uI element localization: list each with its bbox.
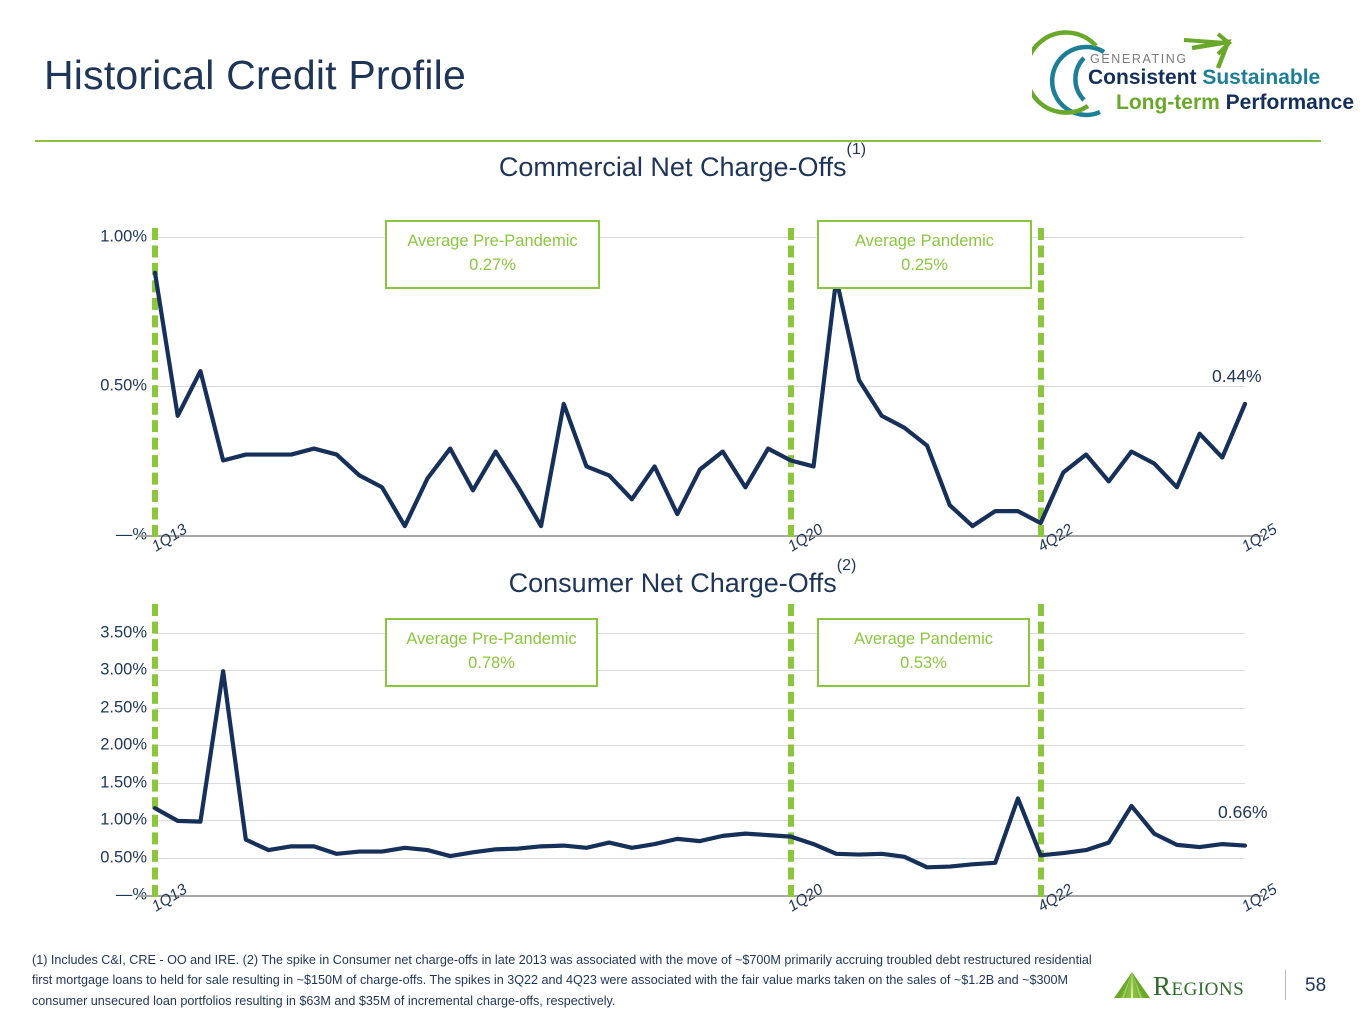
series-line-consumer: [0, 600, 1365, 930]
chart-commercial-net-charge-offs: 1.00%0.50%—%1Q131Q204Q221Q250.44%Average…: [0, 200, 1365, 545]
chart-consumer-net-charge-offs: 3.50%3.00%2.50%2.00%1.50%1.00%0.50%—%1Q1…: [0, 600, 1365, 930]
tagline-line-1: Consistent Sustainable: [1088, 66, 1320, 90]
chart-title-commercial-text: Commercial Net Charge-Offs: [499, 152, 847, 182]
page-title: Historical Credit Profile: [44, 52, 466, 99]
header-divider-rule: [35, 140, 1321, 142]
tagline-word-sustainable: Sustainable: [1202, 66, 1320, 89]
annotation-value: 0.78%: [387, 652, 596, 676]
annotation-value: 0.27%: [387, 254, 598, 278]
annotation-label: Average Pre-Pandemic: [387, 230, 598, 254]
chart-title-commercial: Commercial Net Charge-Offs(1): [0, 152, 1365, 183]
tagline-word-longterm: Long-term: [1116, 91, 1226, 114]
end-value-label: 0.44%: [1212, 366, 1262, 387]
regions-wordmark: Regions: [1153, 971, 1244, 1002]
tagline-word-consistent: Consistent: [1088, 66, 1202, 89]
tagline-word-performance: Performance: [1226, 91, 1354, 114]
annotation-average-pre-pandemic: Average Pre-Pandemic0.78%: [385, 618, 598, 687]
tagline-line-2: Long-term Performance: [1116, 91, 1354, 115]
tagline-generating: GENERATING: [1090, 52, 1188, 66]
annotation-average-pre-pandemic: Average Pre-Pandemic0.27%: [385, 220, 600, 289]
footnote-text: (1) Includes C&I, CRE - OO and IRE. (2) …: [32, 950, 1092, 1011]
tagline-logo: GENERATING Consistent Sustainable Long-t…: [1032, 30, 1332, 130]
end-value-label: 0.66%: [1218, 802, 1268, 823]
chart-title-consumer-superscript: (2): [837, 557, 857, 574]
series-line-commercial: [0, 200, 1365, 545]
annotation-label: Average Pandemic: [819, 628, 1028, 652]
annotation-label: Average Pre-Pandemic: [387, 628, 596, 652]
annotation-label: Average Pandemic: [819, 230, 1030, 254]
chart-title-commercial-superscript: (1): [847, 141, 867, 158]
annotation-average-pandemic: Average Pandemic0.53%: [817, 618, 1030, 687]
footer-divider: [1285, 970, 1286, 1000]
page-number: 58: [1305, 975, 1326, 997]
chart-title-consumer-text: Consumer Net Charge-Offs: [509, 568, 837, 598]
chart-title-consumer: Consumer Net Charge-Offs(2): [0, 568, 1365, 599]
annotation-average-pandemic: Average Pandemic0.25%: [817, 220, 1032, 289]
annotation-value: 0.25%: [819, 254, 1030, 278]
annotation-value: 0.53%: [819, 652, 1028, 676]
